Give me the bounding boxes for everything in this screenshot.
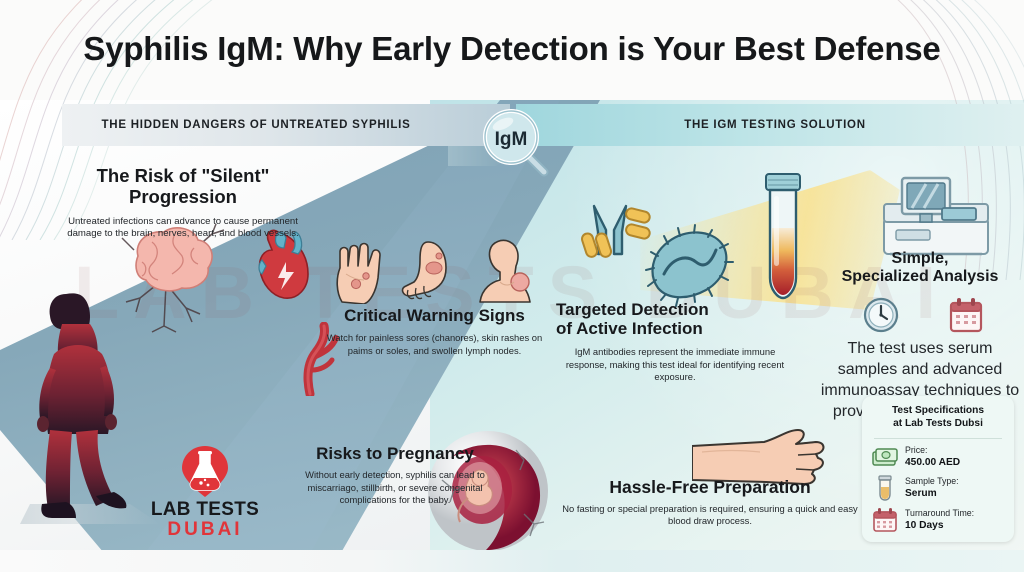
lab-tests-dubai-logo: LAB TESTS DUBAI (130, 444, 280, 540)
calendar-icon (872, 507, 898, 533)
clock-icon (862, 296, 900, 334)
block-simple-specialized-analysis: Simple, Specialized Analysis (820, 250, 1020, 286)
block-targeted-detection: Targeted Detection of Active Infection I… (556, 300, 794, 384)
spec-turnaround-value: 10 Days (905, 519, 974, 532)
spec-price-text: Price: 450.00 AED (905, 445, 960, 470)
flask-pin-icon (174, 444, 236, 498)
spec-sample-text: Sample Type: Serum (905, 476, 959, 501)
hassle-free-heading: Hassle-Free Preparation (560, 478, 860, 498)
critical-warning-heading: Critical Warning Signs (322, 306, 547, 325)
hassle-free-body: No fasting or special preparation is req… (560, 503, 860, 528)
simple-analysis-heading-line2: Specialized Analysis (820, 268, 1020, 286)
spec-card-title-line2: at Lab Tests Dubsi (872, 418, 1004, 431)
infographic-canvas: LAB TESTS DUBAI Syphilis IgM: Why Early … (0, 0, 1024, 572)
pregnancy-body: Without early detection, syphilis can le… (280, 469, 510, 506)
block-risks-to-pregnancy: Risks to Pregnancy Without early detecti… (280, 444, 510, 506)
calendar-icon (948, 296, 984, 334)
pregnancy-heading: Risks to Pregnancy (280, 444, 510, 463)
silent-progression-body: Untreated infections can advance to caus… (58, 216, 308, 241)
block-critical-warning-signs: Critical Warning Signs Watch for painles… (322, 306, 547, 357)
igm-badge-label: IgM (495, 129, 528, 150)
blood-test-tube-illustration (752, 170, 816, 302)
section-band-left: THE HIDDEN DANGERS OF UNTREATED SYPHILIS (62, 104, 510, 146)
targeted-detection-heading-line2: of Active Infection (556, 319, 794, 338)
silent-progression-heading: The Risk of "Silent" Progression (58, 166, 308, 208)
logo-sub: DUBAI (130, 519, 280, 540)
simple-analysis-icons (838, 296, 1008, 334)
critical-warning-body: Watch for painless sores (chanores), ski… (322, 332, 547, 357)
spec-row-price: Price: 450.00 AED (872, 445, 1004, 470)
spec-sample-value: Serum (905, 487, 959, 500)
spec-row-turnaround: Turnaround Time: 10 Days (872, 507, 1004, 533)
targeted-detection-heading-line1: Targeted Detection (556, 300, 794, 319)
page-title: Syphilis IgM: Why Early Detection is You… (0, 30, 1024, 68)
bottom-strip (0, 550, 1024, 572)
spec-price-value: 450.00 AED (905, 456, 960, 469)
hand-rash-icon (330, 238, 392, 304)
antibody-bacteria-illustration (572, 196, 752, 316)
test-specifications-card: Test Specifications at Lab Tests Dubsi P… (862, 396, 1014, 542)
spec-card-title-line1: Test Specifications (872, 405, 1004, 418)
swollen-lymph-node-icon (470, 238, 536, 304)
section-band-right-label: THE IGM TESTING SOLUTION (516, 119, 1024, 131)
simple-analysis-heading-line1: Simple, (820, 250, 1020, 268)
section-band-left-label: THE HIDDEN DANGERS OF UNTREATED SYPHILIS (62, 119, 510, 131)
spec-sample-label: Sample Type: (905, 476, 959, 486)
targeted-detection-body: IgM antibodies represent the immediate i… (556, 346, 794, 383)
money-icon (872, 447, 898, 467)
block-silent-progression: The Risk of "Silent" Progression Untreat… (58, 166, 308, 241)
logo-name: LAB TESTS (130, 500, 280, 519)
section-band-right: THE IGM TESTING SOLUTION (516, 104, 1024, 146)
spec-price-label: Price: (905, 445, 928, 455)
foot-rash-icon (398, 238, 464, 304)
block-hassle-free-preparation: Hassle-Free Preparation No fasting or sp… (560, 478, 860, 528)
symptom-icons-row (330, 238, 536, 304)
vial-icon (872, 475, 898, 501)
spec-turnaround-text: Turnaround Time: 10 Days (905, 508, 974, 533)
spec-turnaround-label: Turnaround Time: (905, 508, 974, 518)
spec-row-sample-type: Sample Type: Serum (872, 475, 1004, 501)
igm-magnifier-icon: IgM (478, 106, 552, 180)
spec-card-divider (874, 438, 1002, 439)
